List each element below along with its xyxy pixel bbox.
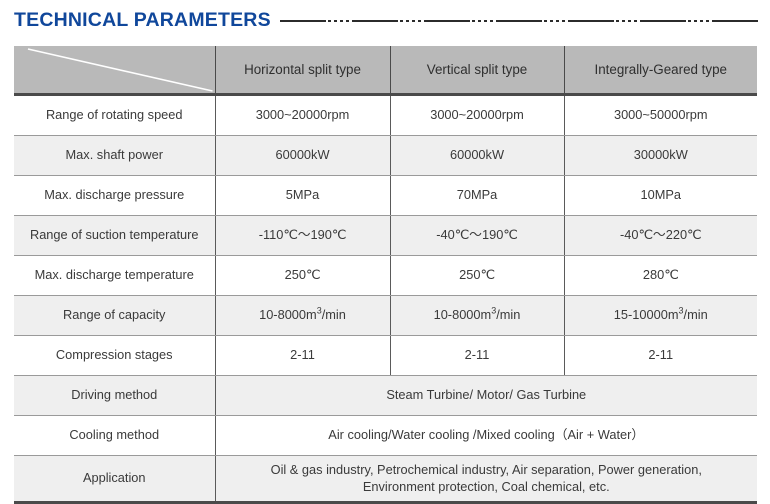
application-line-1: Oil & gas industry, Petrochemical indust… [271,462,702,477]
technical-parameters-page: TECHNICAL PARAMETERS Horizontal split ty… [0,0,770,453]
cell-capacity-geared: 15-10000m3/min [564,296,757,336]
title-divider-line [280,20,760,22]
table-row: Driving method Steam Turbine/ Motor/ Gas… [14,376,757,416]
cell-discharge-pressure-horizontal: 5MPa [215,176,390,216]
row-label-driving-method: Driving method [14,376,215,416]
cell-rotating-speed-vertical: 3000~20000rpm [390,95,564,136]
table-row: Range of capacity 10-8000m3/min 10-8000m… [14,296,757,336]
cell-application-value: Oil & gas industry, Petrochemical indust… [215,456,757,503]
cell-rotating-speed-geared: 3000~50000rpm [564,95,757,136]
cell-discharge-temperature-horizontal: 250℃ [215,256,390,296]
cell-suction-temperature-geared: -40℃～220℃ [564,216,757,256]
row-label-capacity: Range of capacity [14,296,215,336]
table-row: Application Oil & gas industry, Petroche… [14,456,757,503]
table-row: Range of suction temperature -110℃～190℃ … [14,216,757,256]
table-row: Max. discharge pressure 5MPa 70MPa 10MPa [14,176,757,216]
cell-capacity-vertical: 10-8000m3/min [390,296,564,336]
table-row: Range of rotating speed 3000~20000rpm 30… [14,95,757,136]
header-col-horizontal-split: Horizontal split type [215,46,390,95]
cell-discharge-temperature-geared: 280℃ [564,256,757,296]
header-col-integrally-geared: Integrally-Geared type [564,46,757,95]
table-row: Max. discharge temperature 250℃ 250℃ 280… [14,256,757,296]
cell-suction-temperature-vertical: -40℃～190℃ [390,216,564,256]
cell-compression-stages-geared: 2-11 [564,336,757,376]
table-header-row: Horizontal split type Vertical split typ… [14,46,757,95]
table-row: Max. shaft power 60000kW 60000kW 30000kW [14,136,757,176]
header-col-vertical-split: Vertical split type [390,46,564,95]
row-label-compression-stages: Compression stages [14,336,215,376]
cell-driving-method-value: Steam Turbine/ Motor/ Gas Turbine [215,376,757,416]
diagonal-divider-icon [14,46,215,93]
cell-shaft-power-geared: 30000kW [564,136,757,176]
row-label-application: Application [14,456,215,503]
cell-compression-stages-vertical: 2-11 [390,336,564,376]
table-row: Cooling method Air cooling/Water cooling… [14,416,757,456]
cell-cooling-method-value: Air cooling/Water cooling /Mixed cooling… [215,416,757,456]
cell-suction-temperature-horizontal: -110℃～190℃ [215,216,390,256]
application-line-2: Environment protection, Coal chemical, e… [363,479,610,494]
row-label-cooling-method: Cooling method [14,416,215,456]
cell-shaft-power-horizontal: 60000kW [215,136,390,176]
cell-rotating-speed-horizontal: 3000~20000rpm [215,95,390,136]
table-header: Horizontal split type Vertical split typ… [14,46,757,95]
cell-compression-stages-horizontal: 2-11 [215,336,390,376]
row-label-discharge-temperature: Max. discharge temperature [14,256,215,296]
header-corner-cell [14,46,215,95]
parameters-table-container: Horizontal split type Vertical split typ… [14,46,757,504]
section-header: TECHNICAL PARAMETERS [14,6,760,34]
cell-capacity-horizontal: 10-8000m3/min [215,296,390,336]
row-label-rotating-speed: Range of rotating speed [14,95,215,136]
row-label-shaft-power: Max. shaft power [14,136,215,176]
cell-discharge-temperature-vertical: 250℃ [390,256,564,296]
cell-shaft-power-vertical: 60000kW [390,136,564,176]
row-label-suction-temperature: Range of suction temperature [14,216,215,256]
cell-discharge-pressure-vertical: 70MPa [390,176,564,216]
table-row: Compression stages 2-11 2-11 2-11 [14,336,757,376]
table-body: Range of rotating speed 3000~20000rpm 30… [14,95,757,503]
technical-parameters-table: Horizontal split type Vertical split typ… [14,46,757,504]
page-title: TECHNICAL PARAMETERS [14,9,271,32]
row-label-discharge-pressure: Max. discharge pressure [14,176,215,216]
cell-discharge-pressure-geared: 10MPa [564,176,757,216]
